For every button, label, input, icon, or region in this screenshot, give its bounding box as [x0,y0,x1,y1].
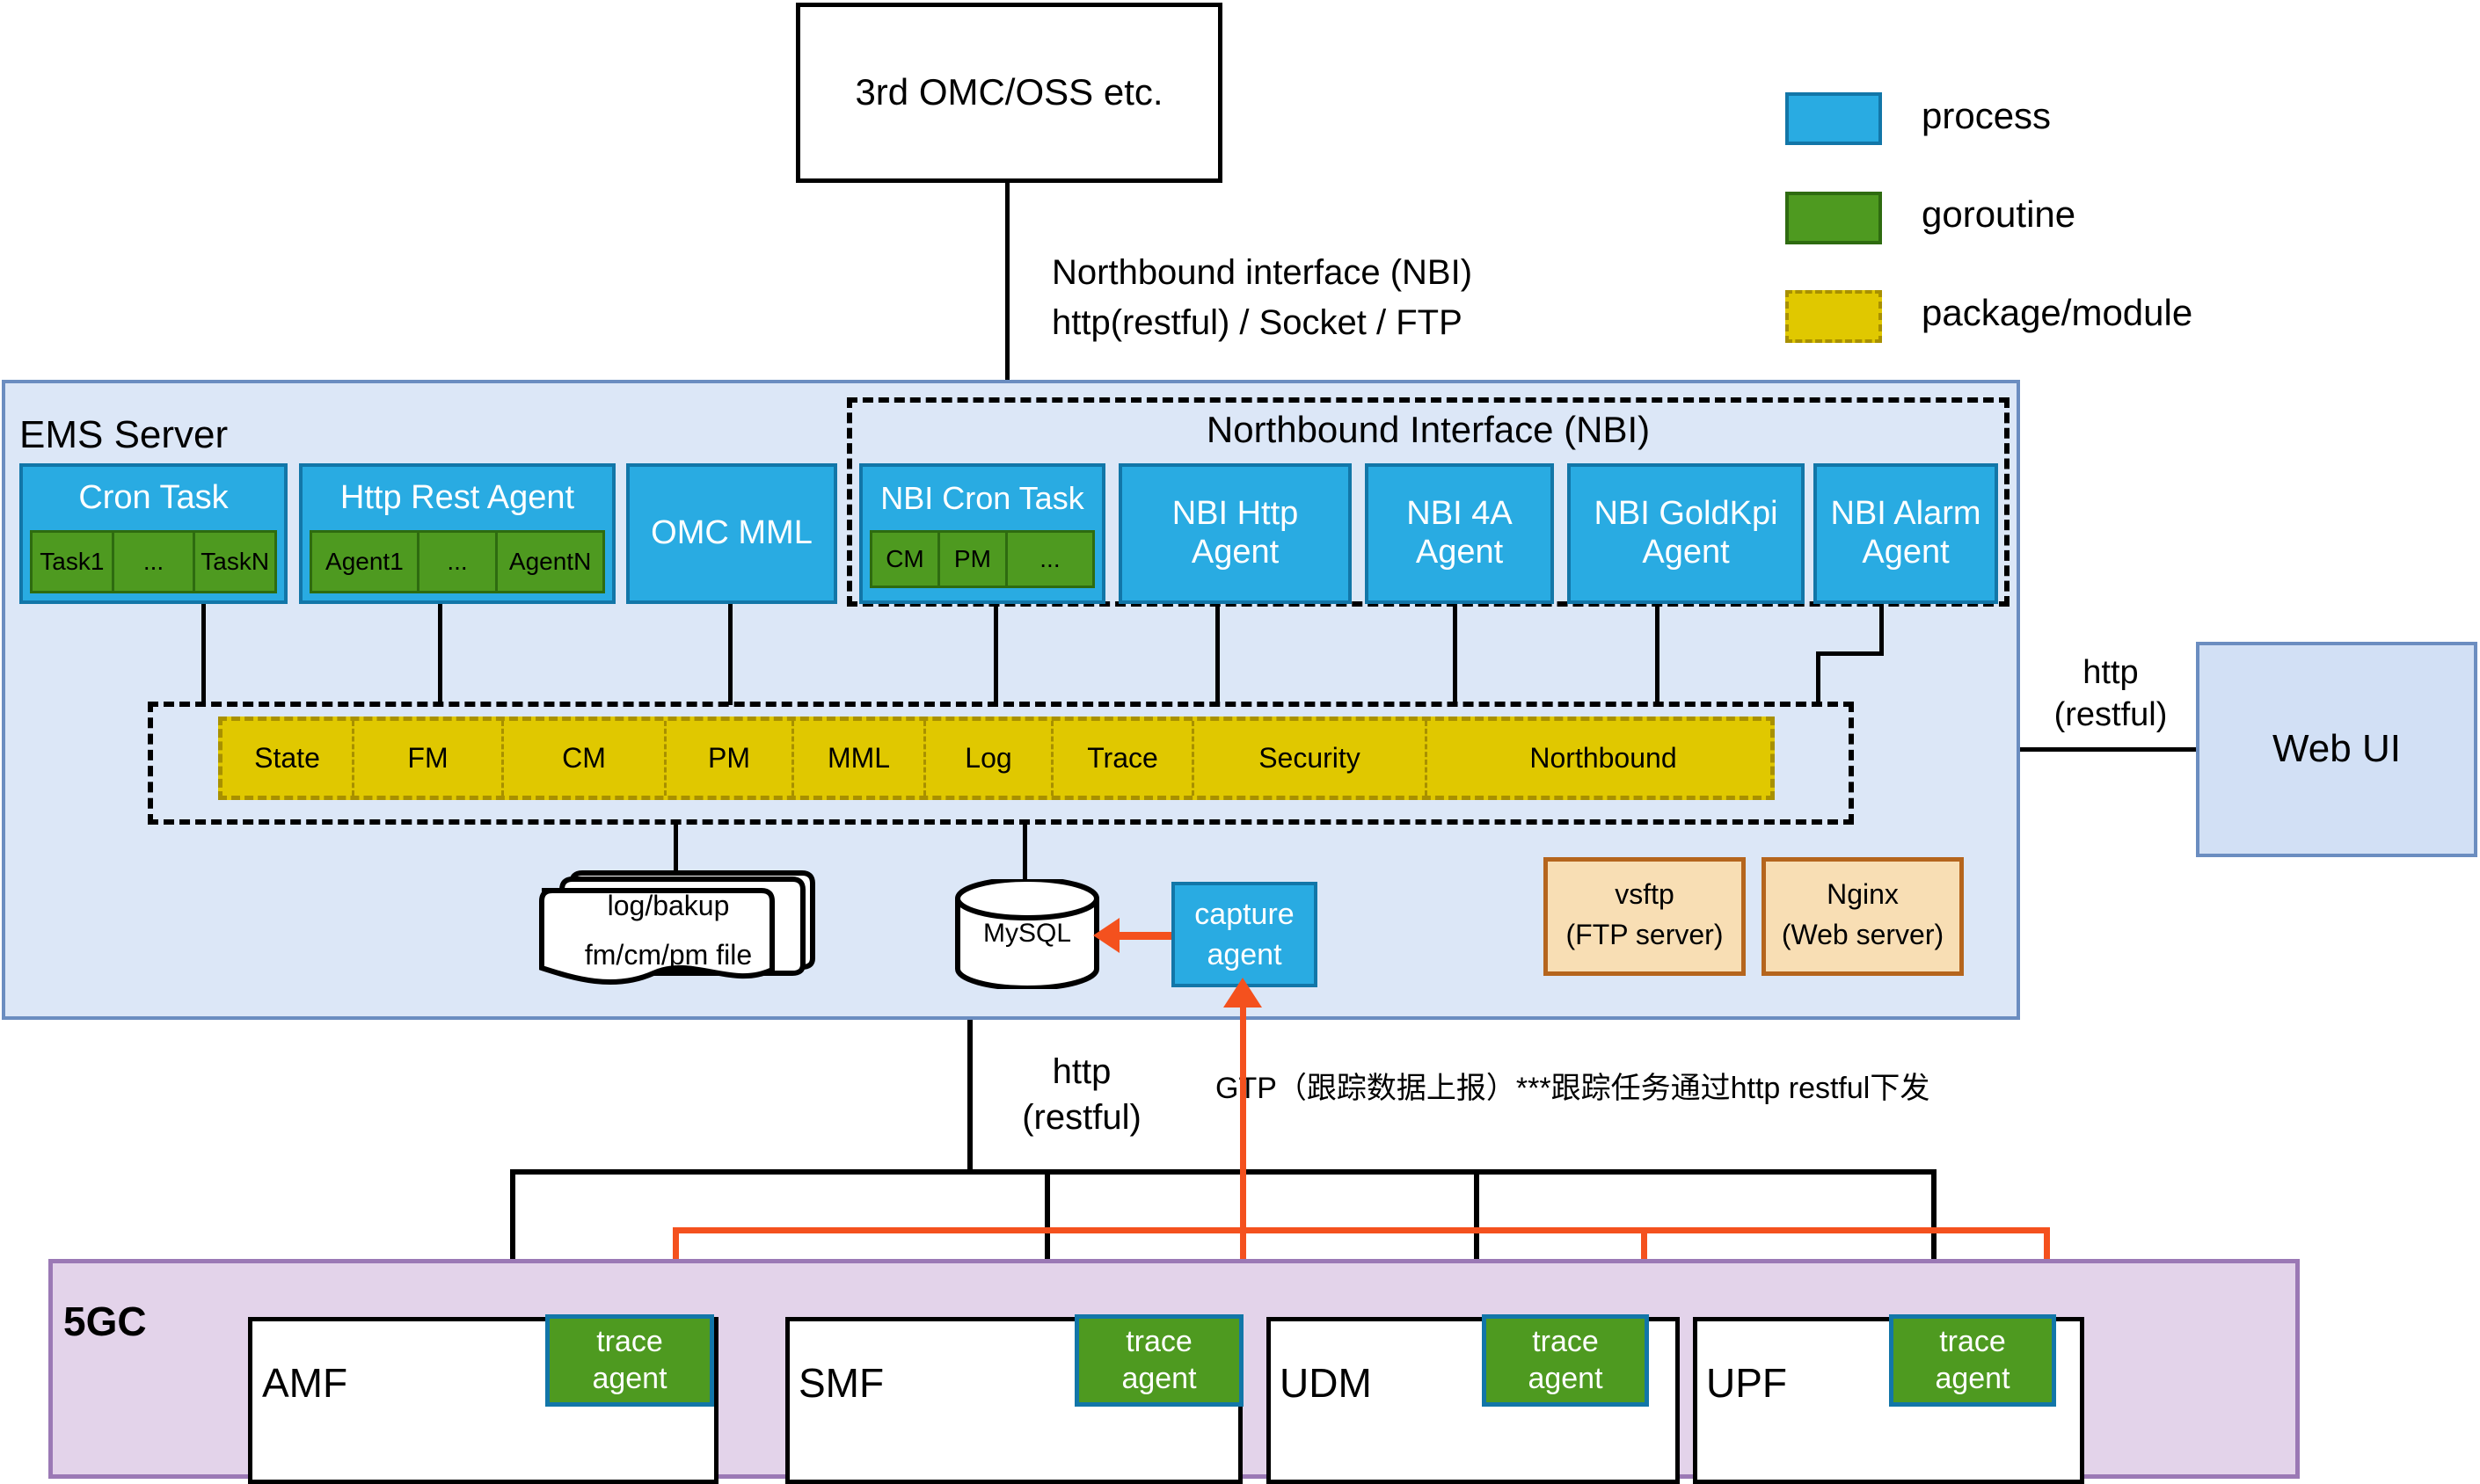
module-trace[interactable]: Trace [1054,721,1194,796]
process-capture-agent[interactable]: capture agent [1171,882,1317,987]
module-pm[interactable]: PM [667,721,794,796]
goroutine-item[interactable]: AgentN [498,530,605,593]
goroutine-row-http-rest-agent: Agent1 ... AgentN [310,530,605,593]
connector-nbi-4a-agent-to-modules [1453,604,1457,705]
webui-link-label-line1: http [2040,655,2181,692]
goroutine-item[interactable]: ... [114,530,196,593]
arrow-capture-to-mysql-head [1093,918,1120,953]
nbi-group-title: Northbound Interface (NBI) [847,406,2010,455]
connector-nbi-alarm-agent-v2 [1816,651,1820,705]
connector-nbi-alarm-agent-v1 [1879,604,1884,654]
goroutine-row-nbi-cron-task: CM PM ... [870,530,1095,588]
process-nbi-http-agent-label: NBI Http Agent [1122,495,1348,571]
goroutine-item[interactable]: ... [419,530,498,593]
nf-amf-label: AMF [262,1359,347,1407]
module-bar: State FM CM PM MML Log Trace Security No… [218,717,1775,800]
trace-agent-udm-line2: agent [1486,1361,1645,1398]
nf-upf-label: UPF [1706,1359,1787,1407]
server-vsftp-line1: vsftp [1548,876,1741,913]
trace-agent-smf[interactable]: trace agent [1075,1314,1244,1407]
module-security[interactable]: Security [1194,721,1427,796]
process-cron-task-label: Cron Task [23,474,284,523]
legend-label-goroutine: goroutine [1922,193,2075,236]
ems-server-title: EMS Server [19,413,228,457]
legend-label-process: process [1922,95,2051,137]
trace-agent-amf-line2: agent [550,1361,710,1398]
module-northbound[interactable]: Northbound [1427,721,1779,796]
mysql-label: MySQL [952,916,1102,951]
gtp-bus-horizontal [673,1227,2050,1233]
trace-agent-amf[interactable]: trace agent [545,1314,714,1407]
goroutine-item[interactable]: TaskN [195,530,277,593]
process-nbi-alarm-agent[interactable]: NBI Alarm Agent [1813,463,1998,604]
connector-omc-to-nbi [1005,183,1010,394]
process-nbi-http-agent[interactable]: NBI Http Agent [1119,463,1352,604]
connector-nbi-http-agent-to-modules [1215,604,1220,705]
server-nginx-line1: Nginx [1766,876,1959,913]
webui-label: Web UI [2272,727,2401,772]
gtp-riser-upper-segment [1240,987,1246,1022]
capture-agent-label-line2: agent [1175,936,1314,975]
goroutine-item[interactable]: PM [940,530,1008,588]
connector-http-rest-agent-to-modules [438,604,442,705]
process-omc-mml-label: OMC MML [651,514,813,553]
file-stack-label-line2: fm/cm/pm file [528,937,809,972]
server-vsftp[interactable]: vsftp (FTP server) [1543,857,1746,976]
legend: process goroutine package/module [1785,88,2330,334]
southbound-http-label-line1: http [1016,1051,1148,1092]
process-http-rest-agent-label: Http Rest Agent [303,474,612,523]
legend-label-package: package/module [1922,292,2192,334]
fivegc-title: 5GC [63,1298,147,1345]
webui-link-label-line2: (restful) [2023,697,2199,734]
trace-agent-smf-line2: agent [1079,1361,1239,1398]
connector-cron-task-to-modules [201,604,206,705]
capture-agent-label-line1: capture [1175,896,1314,935]
server-nginx[interactable]: Nginx (Web server) [1762,857,1964,976]
process-nbi-cron-task-label: NBI Cron Task [863,474,1102,523]
nf-smf-label: SMF [799,1359,884,1407]
process-nbi-cron-task[interactable]: NBI Cron Task CM PM ... [859,463,1105,604]
arrow-capture-to-mysql-line [1117,932,1174,940]
server-vsftp-line2: (FTP server) [1548,916,1741,953]
trace-agent-smf-line1: trace [1079,1324,1239,1361]
module-state[interactable]: State [222,721,354,796]
legend-swatch-package [1785,290,1882,343]
trace-agent-upf-line2: agent [1893,1361,2052,1398]
legend-swatch-goroutine [1785,192,1882,244]
module-mml[interactable]: MML [794,721,926,796]
process-nbi-goldkpi-agent-label: NBI GoldKpi Agent [1571,495,1801,571]
process-http-rest-agent[interactable]: Http Rest Agent Agent1 ... AgentN [299,463,616,604]
nbi-link-label-line1: Northbound interface (NBI) [1052,253,1472,293]
southbound-bus-horizontal [510,1169,1937,1175]
process-nbi-4a-agent[interactable]: NBI 4A Agent [1365,463,1554,604]
process-nbi-4a-agent-label: NBI 4A Agent [1368,495,1550,571]
trace-agent-amf-line1: trace [550,1324,710,1361]
nf-udm-label: UDM [1280,1359,1372,1407]
connector-modules-to-mysql [1023,825,1027,884]
connector-nbi-goldkpi-agent-to-modules [1655,604,1659,705]
process-omc-mml[interactable]: OMC MML [626,463,837,604]
gtp-riser-to-capture-agent [1240,1020,1246,1231]
module-fm[interactable]: FM [354,721,504,796]
server-nginx-line2: (Web server) [1766,916,1959,953]
goroutine-item[interactable]: Task1 [30,530,114,593]
nbi-link-label-line2: http(restful) / Socket / FTP [1052,303,1462,343]
connector-nbi-alarm-agent-h [1816,651,1884,656]
goroutine-row-cron-task: Task1 ... TaskN [30,530,277,593]
trace-agent-udm-line1: trace [1486,1324,1645,1361]
gtp-note-label: GTP（跟踪数据上报）***跟踪任务通过http restful下发 [1215,1064,2095,1107]
southbound-http-label-line2: (restful) [994,1097,1170,1138]
goroutine-item[interactable]: Agent1 [310,530,419,593]
external-omc-oss-box[interactable]: 3rd OMC/OSS etc. [796,3,1222,183]
process-cron-task[interactable]: Cron Task Task1 ... TaskN [19,463,288,604]
webui-box[interactable]: Web UI [2196,642,2477,857]
trace-agent-upf-line1: trace [1893,1324,2052,1361]
process-nbi-alarm-agent-label: NBI Alarm Agent [1817,495,1995,571]
goroutine-item[interactable]: ... [1008,530,1095,588]
connector-ems-to-webui [2020,747,2196,752]
trace-agent-upf[interactable]: trace agent [1889,1314,2056,1407]
goroutine-item[interactable]: CM [870,530,940,588]
southbound-http-drop [967,1020,973,1174]
connector-omc-mml-to-modules [728,604,733,705]
module-log[interactable]: Log [926,721,1054,796]
legend-swatch-process [1785,92,1882,145]
trace-agent-udm[interactable]: trace agent [1482,1314,1649,1407]
process-nbi-goldkpi-agent[interactable]: NBI GoldKpi Agent [1567,463,1805,604]
connector-nbi-cron-task-to-modules [994,604,998,705]
module-cm[interactable]: CM [504,721,667,796]
file-stack-label-line1: log/bakup [528,888,809,923]
